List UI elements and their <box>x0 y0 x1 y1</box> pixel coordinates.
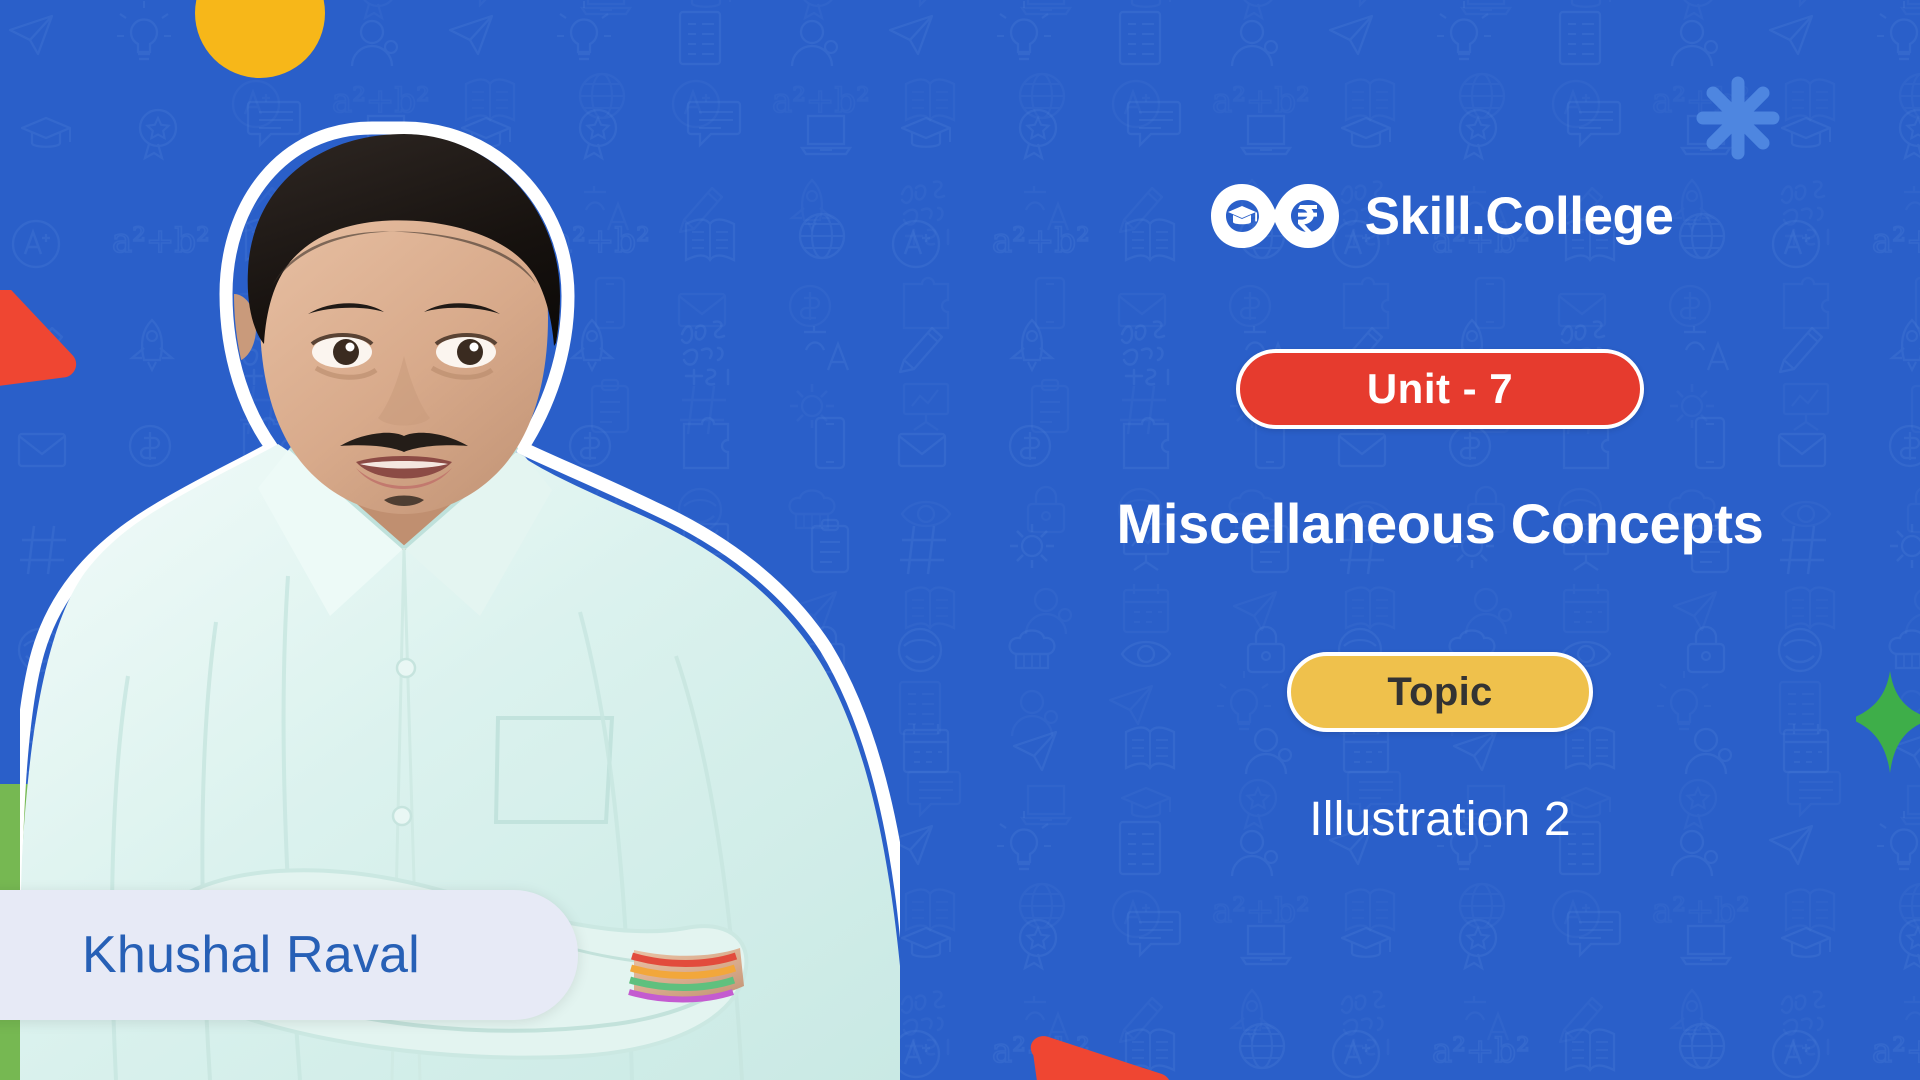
presenter-name: Khushal Raval <box>82 925 420 985</box>
brand-logo: Skill.College <box>1207 178 1674 254</box>
unit-badge: Unit - 7 <box>1236 349 1644 429</box>
topic-name: Illustration 2 <box>1309 792 1571 847</box>
infinity-graduation-rupee-icon <box>1207 178 1343 254</box>
brand-wordmark: Skill.College <box>1365 186 1674 247</box>
topic-badge-label: Topic <box>1387 670 1492 715</box>
presenter-name-badge: Khushal Raval <box>0 890 578 1020</box>
unit-title: Miscellaneous Concepts <box>1117 491 1764 556</box>
lecture-title-card: a²+b² <box>0 0 1920 1080</box>
topic-badge: Topic <box>1287 652 1593 732</box>
content-column: Skill.College Unit - 7 Miscellaneous Con… <box>960 0 1920 1080</box>
unit-badge-label: Unit - 7 <box>1367 365 1513 413</box>
